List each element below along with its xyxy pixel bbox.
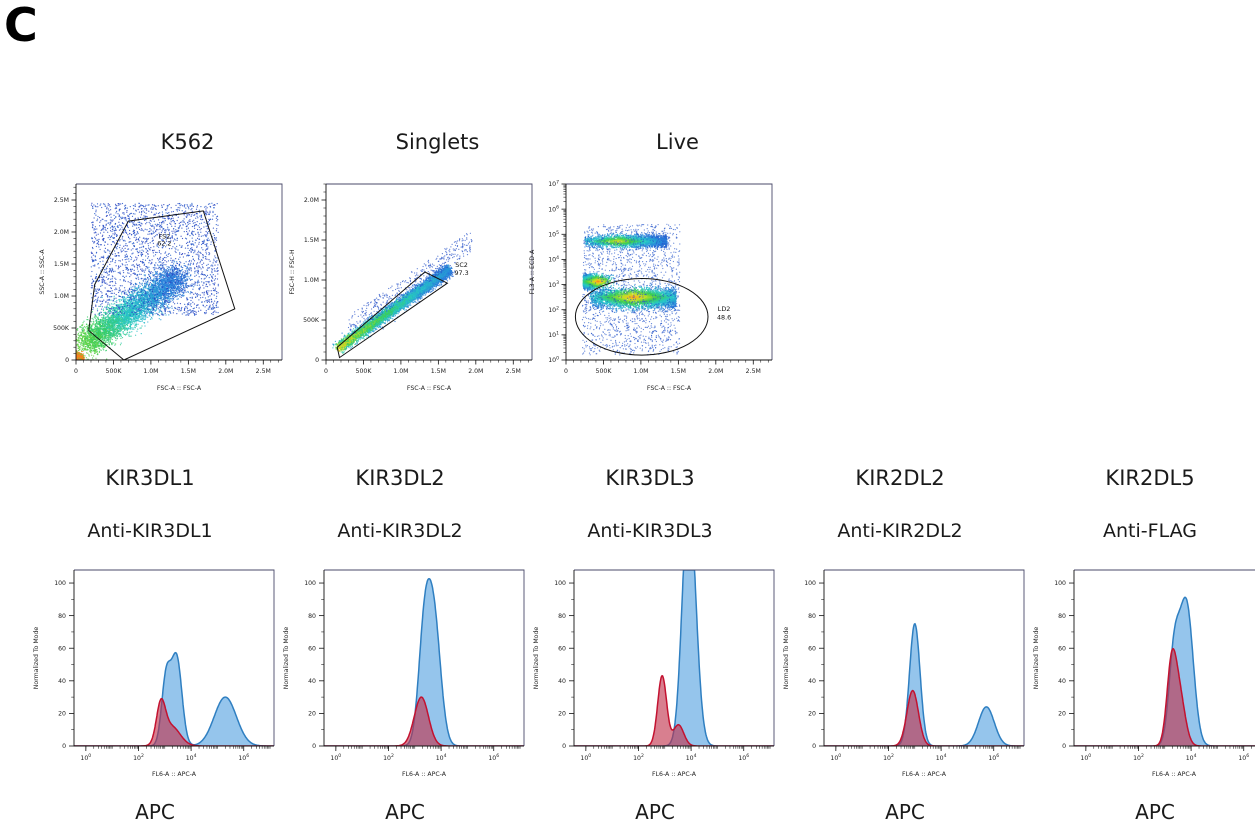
scatter-plot-singlets: SC297.30500K1.0M1.5M2.0M2.5MFSC-A :: FSC… bbox=[282, 170, 550, 410]
histogram-plot-4: 100102104106FL6-A :: APC-A020406080100No… bbox=[1022, 556, 1255, 791]
scatter-title-k562: K562 bbox=[95, 130, 280, 154]
hist-construct-4: KIR2DL5 bbox=[1055, 466, 1245, 490]
hist-antibody-0: Anti-KIR3DL1 bbox=[40, 520, 260, 542]
hist-construct-0: KIR3DL1 bbox=[55, 466, 245, 490]
histogram-plot-1: 100102104106FL6-A :: APC-A020406080100No… bbox=[272, 556, 540, 791]
hist-antibody-1: Anti-KIR3DL2 bbox=[290, 520, 510, 542]
histogram-plot-0: 100102104106FL6-A :: APC-A020406080100No… bbox=[22, 556, 290, 791]
hist-fluor-3: APC bbox=[830, 800, 980, 824]
hist-construct-3: KIR2DL2 bbox=[805, 466, 995, 490]
scatter-plot-k562: FS262.20500K1.0M1.5M2.0M2.5MFSC-A :: FSC… bbox=[32, 170, 300, 410]
histogram-plot-2: 100102104106FL6-A :: APC-A020406080100No… bbox=[522, 556, 790, 791]
histogram-plot-3: 100102104106FL6-A :: APC-A020406080100No… bbox=[772, 556, 1040, 791]
hist-fluor-2: APC bbox=[580, 800, 730, 824]
scatter-title-live: Live bbox=[585, 130, 770, 154]
hist-fluor-0: APC bbox=[80, 800, 230, 824]
scatter-plot-live: LD248.60500K1.0M1.5M2.0M2.5MFSC-A :: FSC… bbox=[522, 170, 790, 410]
hist-antibody-2: Anti-KIR3DL3 bbox=[540, 520, 760, 542]
hist-construct-2: KIR3DL3 bbox=[555, 466, 745, 490]
hist-antibody-4: Anti-FLAG bbox=[1040, 520, 1255, 542]
hist-construct-1: KIR3DL2 bbox=[305, 466, 495, 490]
hist-fluor-1: APC bbox=[330, 800, 480, 824]
scatter-title-singlets: Singlets bbox=[345, 130, 530, 154]
panel-letter: C bbox=[4, 2, 38, 48]
hist-fluor-4: APC bbox=[1080, 800, 1230, 824]
hist-antibody-3: Anti-KIR2DL2 bbox=[790, 520, 1010, 542]
